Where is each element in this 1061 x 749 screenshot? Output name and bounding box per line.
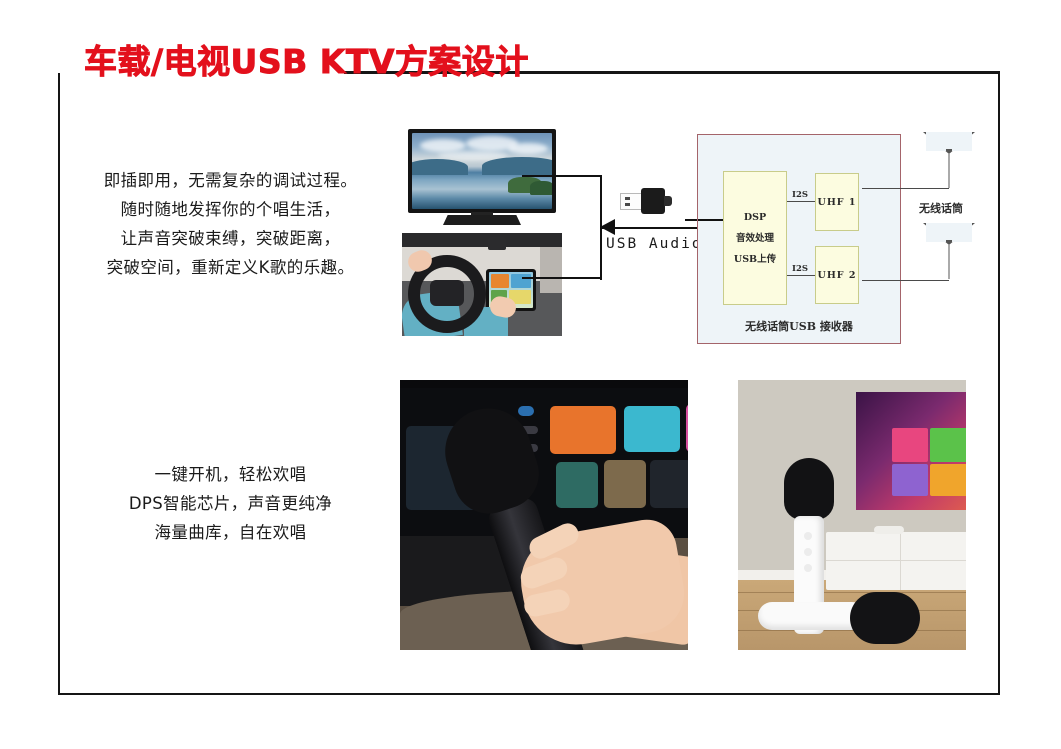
usb-connector-icon bbox=[620, 188, 672, 214]
dsp-line: 音效处理 bbox=[736, 230, 774, 244]
intro-line: 即插即用，无需复杂的调试过程。 bbox=[78, 166, 383, 195]
usb-connection-diagram: USB Audio bbox=[560, 170, 710, 290]
intro-line: 随时随地发挥你的个唱生活， bbox=[78, 195, 383, 224]
microphone-foam-head bbox=[850, 592, 920, 644]
uhf1-block: UHF 1 bbox=[815, 173, 859, 231]
living-room-microphones-photo bbox=[738, 380, 966, 650]
uhf1-label: UHF 1 bbox=[818, 197, 857, 208]
uhf2-antenna-wire bbox=[862, 280, 949, 281]
intro-text-block: 即插即用，无需复杂的调试过程。 随时随地发挥你的个唱生活， 让声音突破束缚，突破… bbox=[78, 166, 383, 282]
uhf1-antenna-wire bbox=[862, 188, 949, 189]
usb-audio-label: USB Audio bbox=[606, 236, 703, 252]
dsp-block: DSP 音效处理 USB上传 bbox=[723, 171, 787, 305]
tv-bezel bbox=[408, 129, 556, 213]
intro-line: 让声音突破束缚，突破距离， bbox=[78, 224, 383, 253]
receiver-block-diagram: DSP 音效处理 USB上传 UHF 1 UHF 2 I2S I2S 无线话筒U… bbox=[697, 134, 901, 344]
tv-screen bbox=[412, 133, 552, 209]
antenna-2-icon bbox=[923, 223, 975, 245]
i2s-label-2: I2S bbox=[790, 264, 810, 274]
tv-stand bbox=[443, 215, 521, 225]
diagram-caption: 无线话筒USB 接收器 bbox=[698, 318, 900, 334]
dashcam-icon bbox=[488, 237, 506, 250]
i2s-label-1: I2S bbox=[790, 190, 810, 200]
wireless-mic-label: 无线话筒 bbox=[919, 200, 963, 216]
remote-control bbox=[874, 526, 904, 534]
feature-line: 海量曲库，自在欢唱 bbox=[78, 518, 383, 547]
car-interior-photo bbox=[402, 233, 562, 336]
feature-line: DPS智能芯片，声音更纯净 bbox=[78, 489, 383, 518]
uhf2-block: UHF 2 bbox=[815, 246, 859, 304]
page-title: 车载/电视USB KTV方案设计 bbox=[84, 44, 529, 80]
microphone-foam-head bbox=[784, 458, 834, 520]
uhf2-label: UHF 2 bbox=[818, 270, 857, 281]
arrow-left-icon bbox=[600, 219, 615, 235]
microphone-in-car-photo bbox=[400, 380, 688, 650]
car-media-screen bbox=[400, 388, 688, 538]
slide-canvas: 车载/电视USB KTV方案设计 即插即用，无需复杂的调试过程。 随时随地发挥你… bbox=[0, 0, 1061, 749]
feature-text-block: 一键开机，轻松欢唱 DPS智能芯片，声音更纯净 海量曲库，自在欢唱 bbox=[78, 460, 383, 547]
feature-line: 一键开机，轻松欢唱 bbox=[78, 460, 383, 489]
dsp-line: DSP bbox=[744, 212, 766, 223]
antenna-1-icon bbox=[923, 132, 975, 154]
intro-line: 突破空间，重新定义K歌的乐趣。 bbox=[78, 253, 383, 282]
wall-television bbox=[856, 392, 966, 510]
dsp-line: USB上传 bbox=[734, 251, 776, 265]
tv-cabinet bbox=[826, 532, 966, 590]
